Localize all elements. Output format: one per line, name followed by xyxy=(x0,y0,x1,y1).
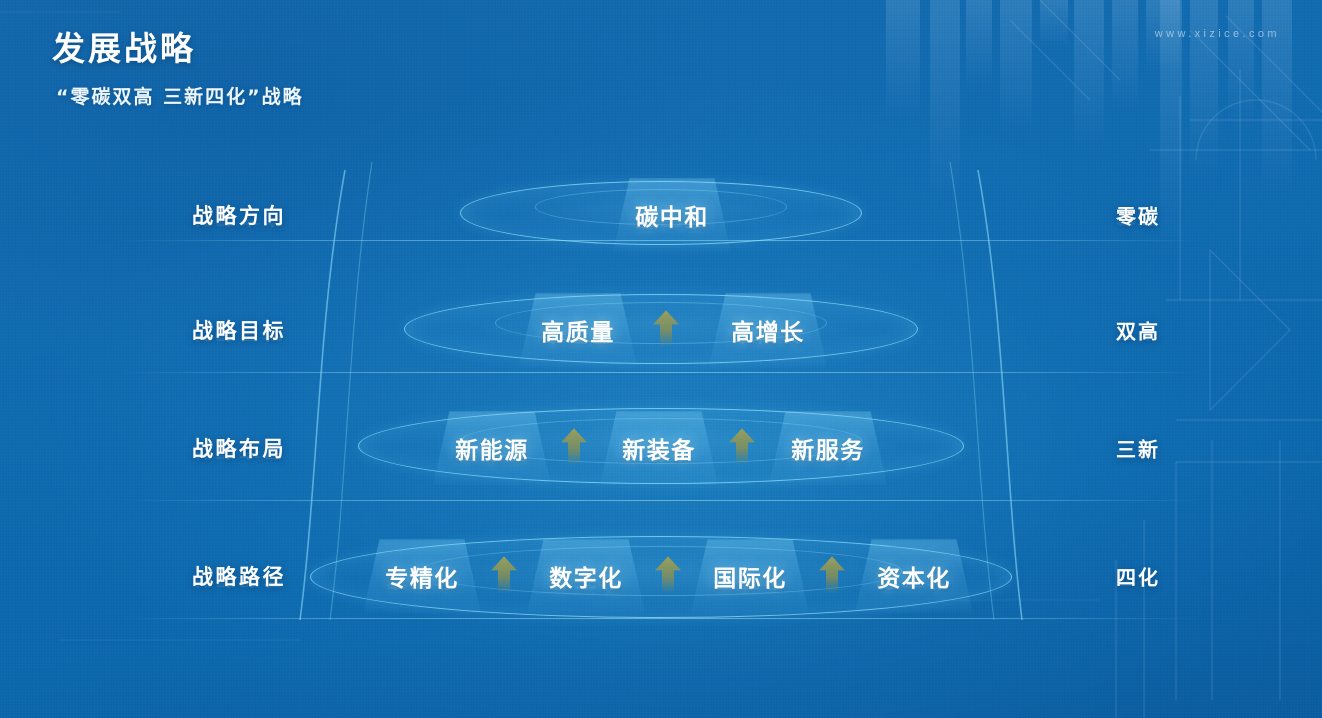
item-guojihua[interactable]: 国际化 国际化 xyxy=(713,559,787,593)
item-label: 专精化 专精化 xyxy=(385,559,459,593)
slide-canvas: 发展战略 “零碳双高 三新四化”战略 www.xizice.com 战略方 xyxy=(0,0,1322,718)
item-label-text: 碳中和 xyxy=(635,205,709,231)
page-title: 发展战略 xyxy=(52,22,304,70)
item-zhuanjinghua[interactable]: 专精化 专精化 xyxy=(385,559,459,593)
site-watermark: www.xizice.com xyxy=(1155,28,1280,40)
up-arrow-icon xyxy=(489,553,519,595)
pyramid-row-4: 战略路径 战略路径 四化 四化 专精化 专精化 数字化 xyxy=(0,516,1322,636)
item-label-text: 新能源 xyxy=(455,438,529,464)
item-label-text: 专精化 xyxy=(385,566,459,592)
item-tanzhonghe[interactable]: 碳中和 碳中和 xyxy=(635,198,709,232)
item-label-text: 高增长 xyxy=(731,320,805,346)
item-xinnengyuan[interactable]: 新能源 新能源 xyxy=(455,431,529,465)
item-shuzihua[interactable]: 数字化 数字化 xyxy=(549,559,623,593)
item-label: 碳中和 碳中和 xyxy=(635,198,709,232)
pyramid-row-1: 战略方向 战略方向 零碳 零碳 碳中和 碳中和 xyxy=(0,155,1322,275)
pyramid-row-3: 战略布局 战略布局 三新 三新 新能源 新能源 新装备 xyxy=(0,388,1322,508)
item-zibenhua[interactable]: 资本化 资本化 xyxy=(877,559,951,593)
page-subtitle: “零碳双高 三新四化”战略 xyxy=(56,82,304,109)
row-1-items: 碳中和 碳中和 xyxy=(0,155,1322,275)
up-arrow-icon xyxy=(817,553,847,595)
item-label: 资本化 资本化 xyxy=(877,559,951,593)
item-label: 国际化 国际化 xyxy=(713,559,787,593)
up-arrow-icon xyxy=(727,425,757,467)
strategy-pyramid-diagram: 战略方向 战略方向 零碳 零碳 碳中和 碳中和 xyxy=(0,150,1322,650)
item-label: 新服务 新服务 xyxy=(791,431,865,465)
header: 发展战略 “零碳双高 三新四化”战略 xyxy=(52,22,304,109)
item-label-text: 数字化 xyxy=(549,566,623,592)
item-label-text: 新服务 xyxy=(791,438,865,464)
item-gaozhiliang[interactable]: 高质量 高质量 xyxy=(541,313,615,347)
item-gaozengzhang[interactable]: 高增长 高增长 xyxy=(731,313,805,347)
item-label-text: 资本化 xyxy=(877,566,951,592)
item-label: 数字化 数字化 xyxy=(549,559,623,593)
up-arrow-icon xyxy=(559,425,589,467)
row-2-items: 高质量 高质量 高增长 高增长 xyxy=(0,270,1322,390)
item-label: 新能源 新能源 xyxy=(455,431,529,465)
item-xinfuwu[interactable]: 新服务 新服务 xyxy=(791,431,865,465)
up-arrow-icon xyxy=(651,307,681,349)
item-label-text: 国际化 xyxy=(713,566,787,592)
item-label: 高质量 高质量 xyxy=(541,313,615,347)
item-xinzhuangbei[interactable]: 新装备 新装备 xyxy=(622,431,696,465)
item-label-text: 高质量 xyxy=(541,320,615,346)
up-arrow-icon xyxy=(653,553,683,595)
item-label: 高增长 高增长 xyxy=(731,313,805,347)
pyramid-row-2: 战略目标 战略目标 双高 双高 高质量 高质量 高增长 xyxy=(0,270,1322,390)
row-4-items: 专精化 专精化 数字化 数字化 国际化 国际化 xyxy=(0,516,1322,636)
row-3-items: 新能源 新能源 新装备 新装备 新服务 新服务 xyxy=(0,388,1322,508)
item-label: 新装备 新装备 xyxy=(622,431,696,465)
item-label-text: 新装备 xyxy=(622,438,696,464)
